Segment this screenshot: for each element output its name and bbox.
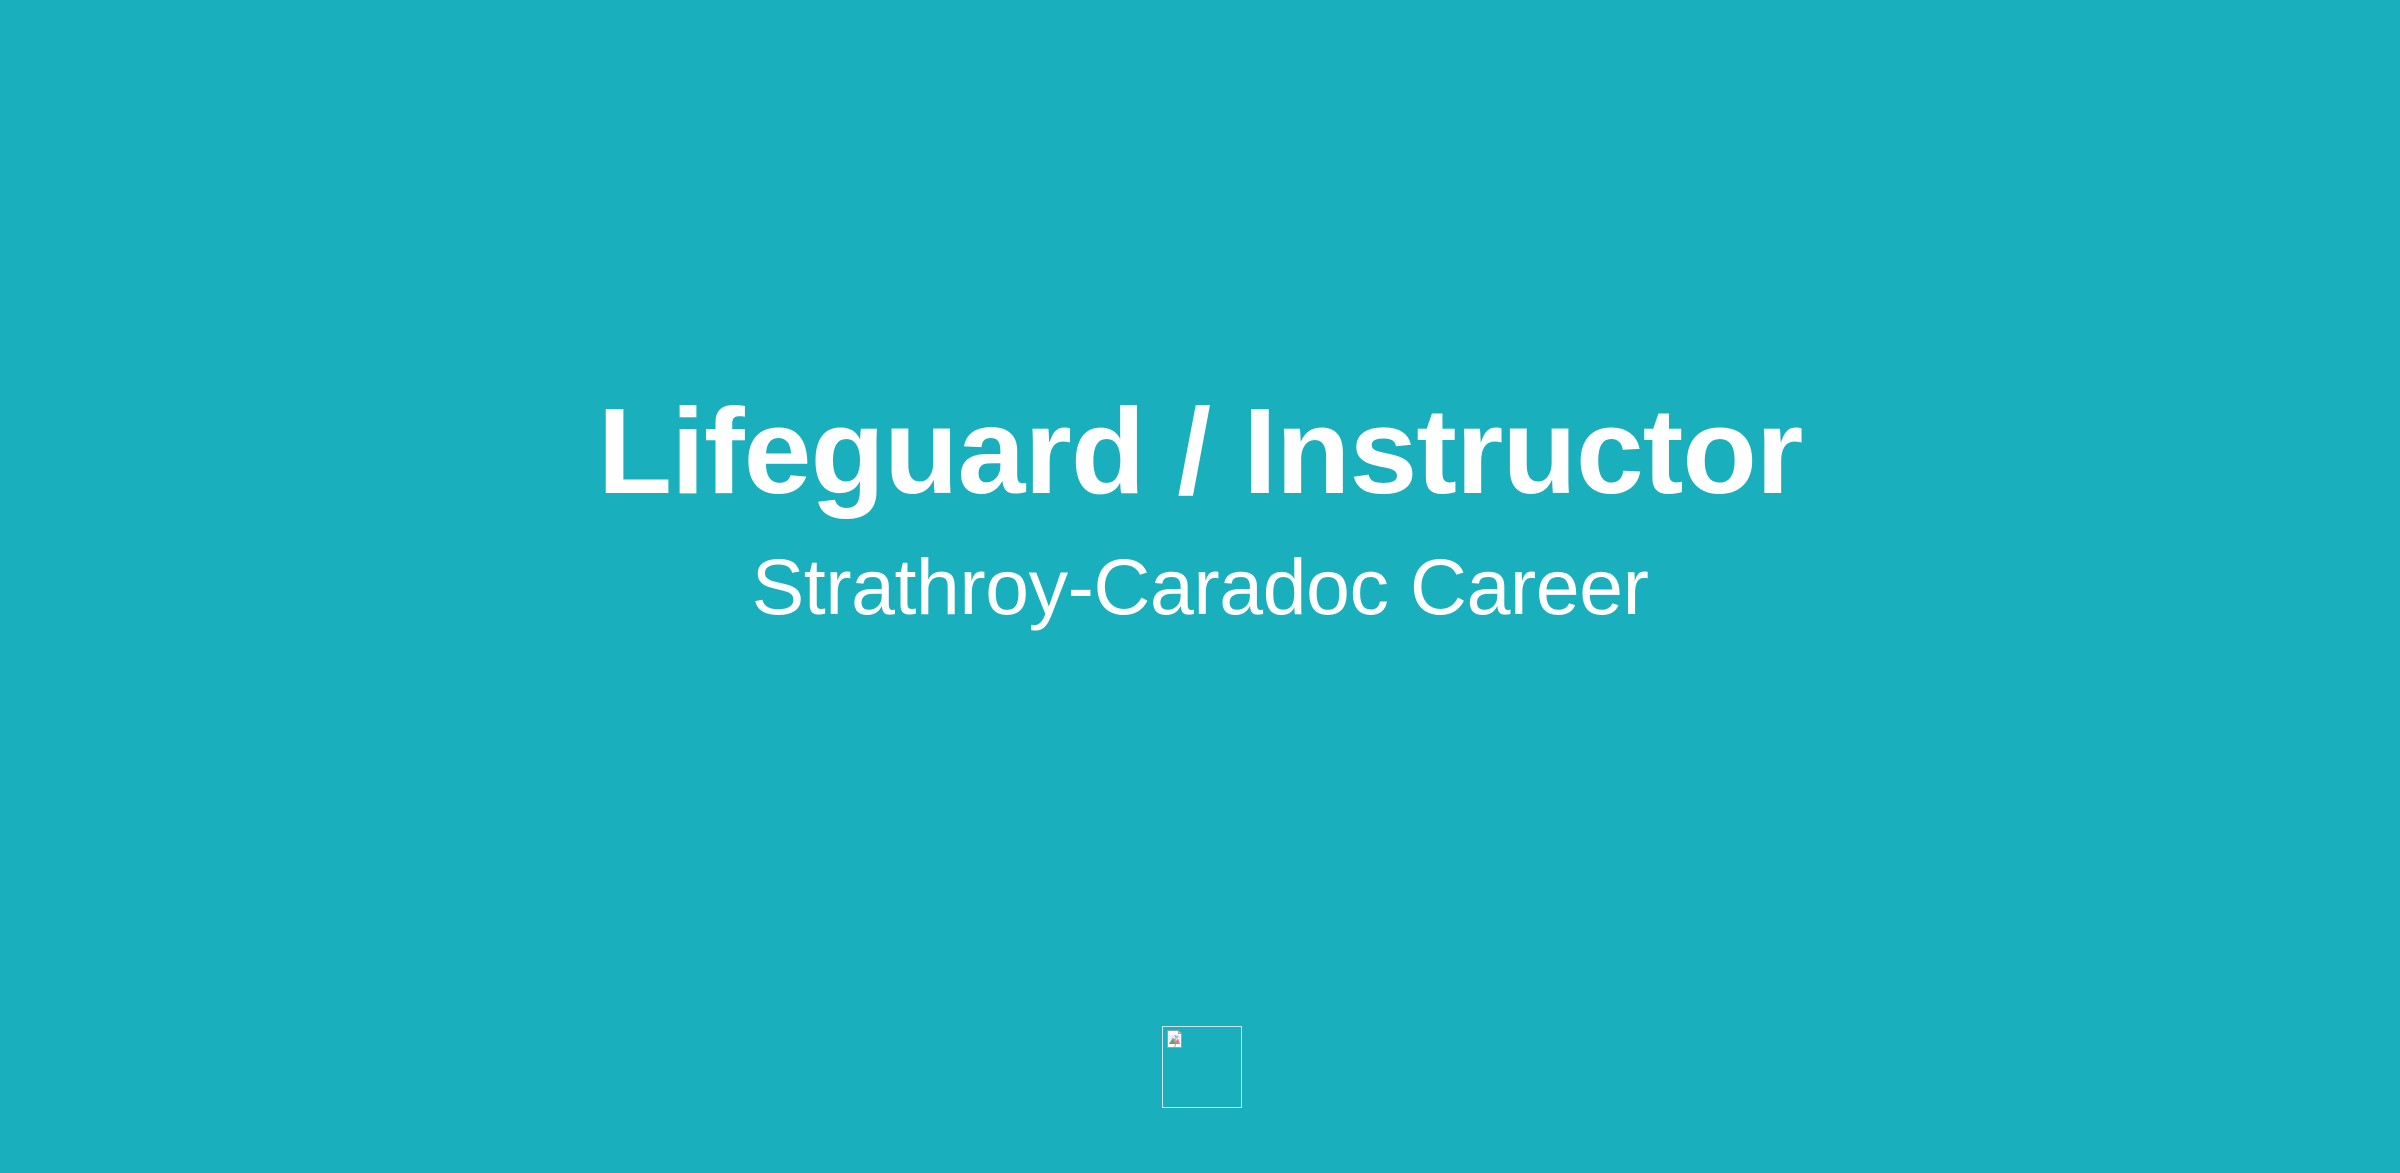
page-title: Lifeguard / Instructor xyxy=(0,389,2400,513)
broken-image-icon xyxy=(1165,1029,1185,1049)
page-subtitle: Strathroy-Caradoc Career xyxy=(0,541,2400,633)
broken-image-placeholder xyxy=(1162,1026,1242,1108)
page-root: Lifeguard / Instructor Strathroy-Caradoc… xyxy=(0,0,2400,1173)
